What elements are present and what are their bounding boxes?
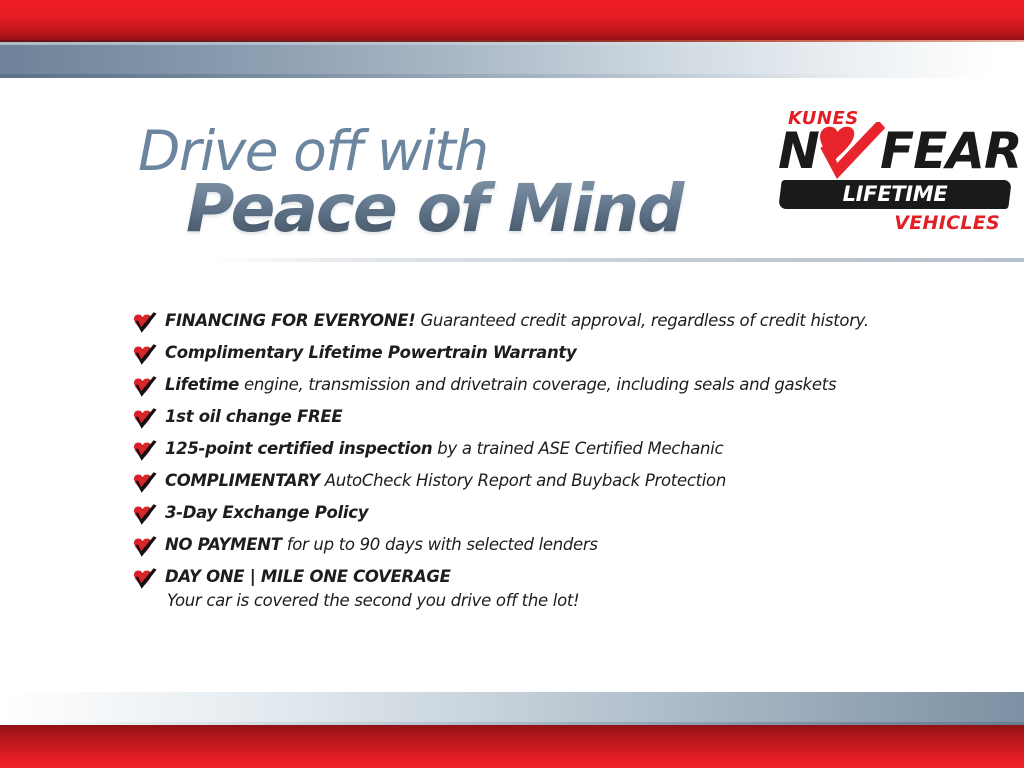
- list-item: NO PAYMENT for up to 90 days with select…: [131, 532, 931, 564]
- heart-check-icon: [131, 568, 157, 590]
- list-item-rest: for up to 90 days with selected lenders: [282, 535, 598, 554]
- logo-lifetime-certified-bar: LIFETIME CERTIFIED: [778, 180, 1012, 209]
- list-item-strong: 3-Day Exchange Policy: [165, 503, 368, 522]
- headline-line-2: Peace of Mind: [186, 174, 738, 244]
- list-item-strong: COMPLIMENTARY: [165, 471, 320, 490]
- heart-check-icon: [131, 408, 157, 430]
- list-item-strong: Complimentary Lifetime Powertrain Warran…: [165, 343, 576, 362]
- list-item: 1st oil change FREE: [131, 404, 931, 436]
- list-item-rest: AutoCheck History Report and Buyback Pro…: [320, 471, 726, 490]
- list-item-text: 1st oil change FREE: [165, 407, 342, 426]
- heart-check-icon: [131, 344, 157, 366]
- feature-list: FINANCING FOR EVERYONE! Guaranteed credi…: [131, 308, 931, 616]
- top-banner-red-stripe: [0, 0, 1024, 42]
- list-item-rest: engine, transmission and drivetrain cove…: [239, 375, 836, 394]
- heart-check-icon: [131, 376, 157, 398]
- list-item-strong: FINANCING FOR EVERYONE!: [165, 311, 416, 330]
- kunes-no-fear-logo: KUNES N FEAR LIFETIME CERTIFIED VEHICLES: [776, 108, 1014, 244]
- heart-check-icon: [131, 312, 157, 334]
- header-divider: [210, 258, 1024, 262]
- list-item: 125-point certified inspection by a trai…: [131, 436, 931, 468]
- list-item-strong: 1st oil change FREE: [165, 407, 342, 426]
- list-item: Lifetime engine, transmission and drivet…: [131, 372, 931, 404]
- list-item-rest: by a trained ASE Certified Mechanic: [432, 439, 723, 458]
- list-item-text: Complimentary Lifetime Powertrain Warran…: [165, 343, 576, 362]
- logo-lifetime-certified-text: LIFETIME CERTIFIED: [780, 180, 1010, 209]
- heart-check-icon: [812, 122, 886, 180]
- list-item-text: FINANCING FOR EVERYONE! Guaranteed credi…: [165, 311, 869, 330]
- heart-check-icon: [131, 536, 157, 558]
- list-item-text: 3-Day Exchange Policy: [165, 503, 368, 522]
- list-item: FINANCING FOR EVERYONE! Guaranteed credi…: [131, 308, 931, 340]
- heart-check-icon: [131, 472, 157, 494]
- list-item-text: NO PAYMENT for up to 90 days with select…: [165, 535, 598, 554]
- heart-check-icon: [131, 504, 157, 526]
- list-item: DAY ONE | MILE ONE COVERAGE Your car is …: [131, 564, 931, 616]
- bottom-banner-red-stripe: [0, 725, 1024, 768]
- list-item: COMPLIMENTARY AutoCheck History Report a…: [131, 468, 931, 500]
- list-item-strong: Lifetime: [165, 375, 239, 394]
- list-item: 3-Day Exchange Policy: [131, 500, 931, 532]
- list-item: Complimentary Lifetime Powertrain Warran…: [131, 340, 931, 372]
- list-item-rest: Guaranteed credit approval, regardless o…: [416, 311, 869, 330]
- bottom-banner-silver-stripe: [0, 692, 1024, 725]
- logo-wordmark: N FEAR: [776, 128, 1014, 178]
- list-item-text: 125-point certified inspection by a trai…: [165, 439, 723, 458]
- list-item-text: Lifetime engine, transmission and drivet…: [165, 375, 836, 394]
- list-item-text: COMPLIMENTARY AutoCheck History Report a…: [165, 471, 726, 490]
- top-banner: [0, 0, 1024, 78]
- heart-check-icon: [131, 440, 157, 462]
- top-banner-silver-stripe: [0, 42, 1024, 78]
- logo-word-vehicles: VEHICLES: [894, 212, 1000, 234]
- list-item-strong: NO PAYMENT: [165, 535, 282, 554]
- page-headline: Drive off with Peace of Mind: [138, 122, 738, 244]
- list-item-text: DAY ONE | MILE ONE COVERAGE: [165, 567, 451, 586]
- list-item-subtext: Your car is covered the second you drive…: [165, 590, 931, 612]
- logo-word-fear: FEAR: [880, 126, 1022, 176]
- list-item-strong: DAY ONE | MILE ONE COVERAGE: [165, 567, 451, 586]
- bottom-banner: [0, 692, 1024, 768]
- list-item-strong: 125-point certified inspection: [165, 439, 432, 458]
